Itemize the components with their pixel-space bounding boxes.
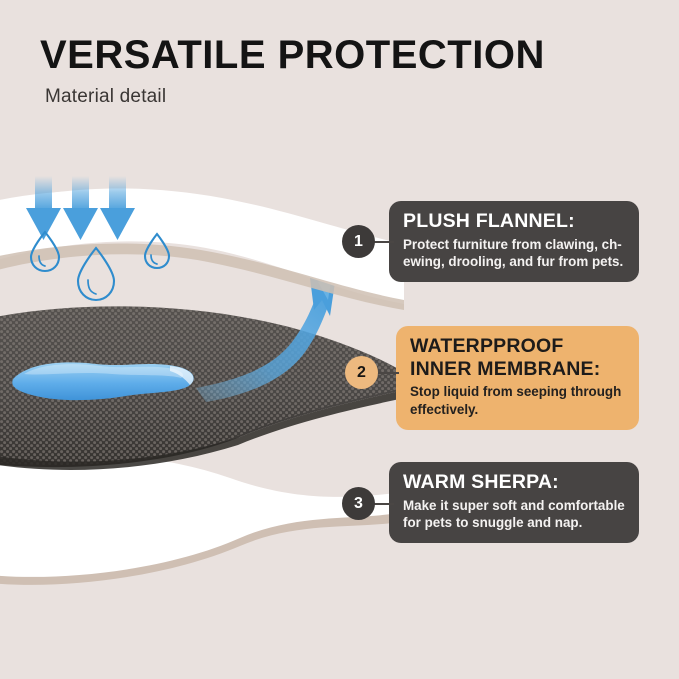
callout-body-1: Protect furniture from clawing, ch- ewin… [403,236,625,271]
callout-title-1: PLUSH FLANNEL: [403,210,625,233]
callout-body-2: Stop liquid from seeping through effecti… [410,383,625,418]
callout-body-line-3a: Make it super soft and comfortable [403,498,625,513]
infographic-root: VERSATILE PROTECTION Material detail 1 2… [0,0,679,679]
layer-badge-3[interactable]: 3 [342,487,375,520]
callout-warm-sherpa[interactable]: WARM SHERPA: Make it super soft and comf… [389,462,639,543]
layer-badge-2[interactable]: 2 [345,356,378,389]
page-subtitle: Material detail [45,86,545,108]
layer-badge-1[interactable]: 1 [342,225,375,258]
callout-body-3: Make it super soft and comfortable for p… [403,497,625,532]
page-title: VERSATILE PROTECTION [40,34,545,76]
connector-line-3 [372,503,394,505]
callout-plush-flannel[interactable]: PLUSH FLANNEL: Protect furniture from cl… [389,201,639,282]
callout-body-line-1a: Protect furniture from clawing, ch- [403,237,622,252]
callout-body-line-1b: ewing, drooling, and fur from pets. [403,254,623,269]
callout-title-2: WATERPPROOF INNER MEMBRANE: [410,335,625,380]
connector-line-2 [375,372,399,374]
down-arrows [26,176,135,240]
callout-waterproof-membrane[interactable]: WATERPPROOF INNER MEMBRANE: Stop liquid … [396,326,639,430]
callout-title-3: WARM SHERPA: [403,471,625,494]
header: VERSATILE PROTECTION Material detail [40,34,545,108]
callout-body-line-2b: effectively. [410,402,478,417]
callout-body-line-3b: for pets to snuggle and nap. [403,515,582,530]
callout-body-line-2a: Stop liquid from seeping through [410,384,621,399]
connector-line-1 [372,241,394,243]
callout-title-line-2b: INNER MEMBRANE: [410,358,600,380]
callout-title-line-2a: WATERPPROOF [410,335,564,357]
